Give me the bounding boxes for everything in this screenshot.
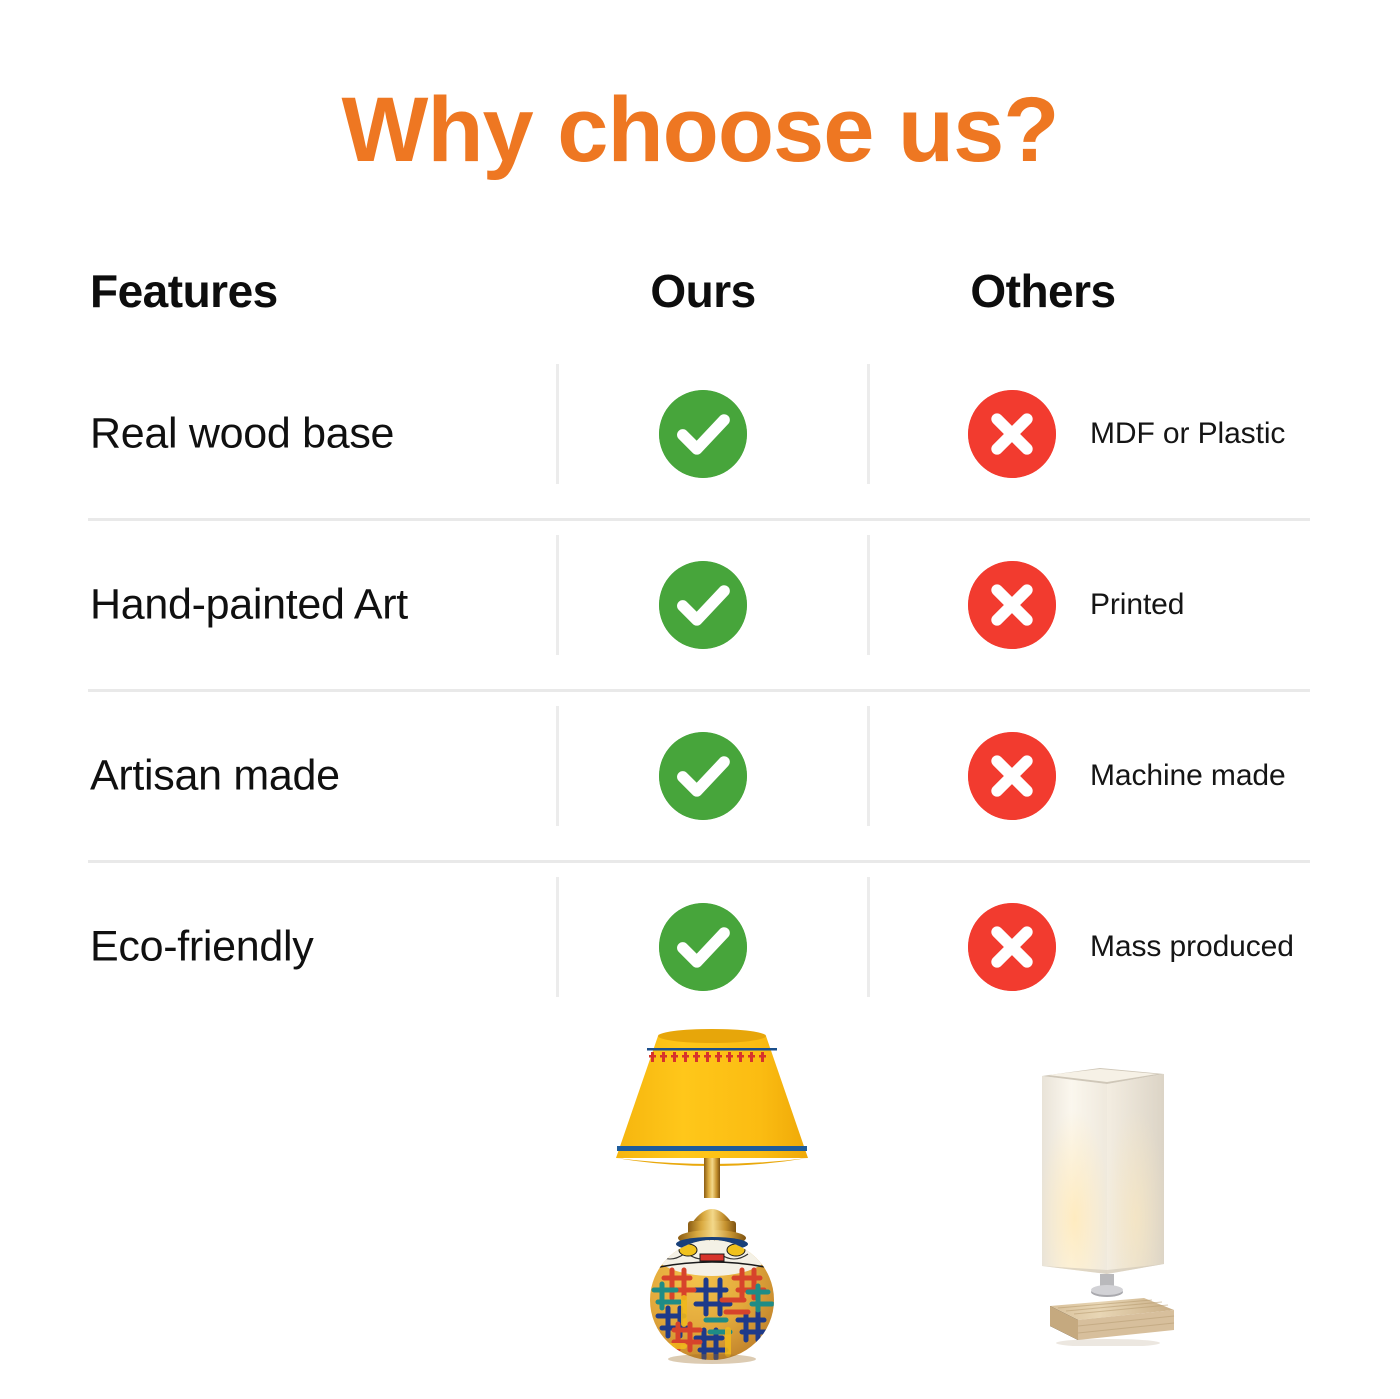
table-row: Eco-friendly Mass produced — [88, 863, 1310, 1031]
comparison-table: Features Ours Others Real wood base MDF … — [88, 258, 1310, 1031]
ours-product-image — [596, 1028, 828, 1368]
feature-label: Real wood base — [90, 410, 394, 459]
others-value-text: Machine made — [1090, 759, 1286, 793]
column-header-features: Features — [90, 264, 278, 318]
column-divider-right — [867, 535, 870, 655]
column-header-ours: Ours — [558, 264, 848, 318]
others-value-text: MDF or Plastic — [1090, 417, 1285, 451]
check-circle-icon — [659, 732, 747, 820]
column-divider-right — [867, 877, 870, 997]
cross-circle-icon — [968, 561, 1056, 649]
cross-circle-icon — [968, 903, 1056, 991]
column-divider-right — [867, 364, 870, 484]
table-row: Artisan made Machine made — [88, 692, 1310, 860]
ours-cell — [558, 561, 848, 649]
others-cell: Printed — [968, 561, 1184, 649]
cross-circle-icon — [968, 732, 1056, 820]
feature-label: Artisan made — [90, 752, 340, 801]
ours-cell — [558, 732, 848, 820]
table-row: Real wood base MDF or Plastic — [88, 350, 1310, 518]
others-value-text: Mass produced — [1090, 930, 1294, 964]
ours-cell — [558, 390, 848, 478]
page-title: Why choose us? — [0, 78, 1400, 183]
feature-label: Eco-friendly — [90, 923, 313, 972]
cross-circle-icon — [968, 390, 1056, 478]
others-value-text: Printed — [1090, 588, 1184, 622]
check-circle-icon — [659, 390, 747, 478]
check-circle-icon — [659, 903, 747, 991]
feature-label: Hand-painted Art — [90, 581, 408, 630]
others-cell: Machine made — [968, 732, 1286, 820]
table-row: Hand-painted Art Printed — [88, 521, 1310, 689]
column-header-others: Others — [898, 264, 1188, 318]
others-product-image — [1012, 1058, 1202, 1346]
table-header-row: Features Ours Others — [88, 258, 1310, 350]
infographic-page: Why choose us? Features Ours Others Real… — [0, 0, 1400, 1399]
ours-cell — [558, 903, 848, 991]
others-cell: MDF or Plastic — [968, 390, 1285, 478]
others-cell: Mass produced — [968, 903, 1294, 991]
product-images-row — [0, 1010, 1400, 1399]
check-circle-icon — [659, 561, 747, 649]
column-divider-right — [867, 706, 870, 826]
